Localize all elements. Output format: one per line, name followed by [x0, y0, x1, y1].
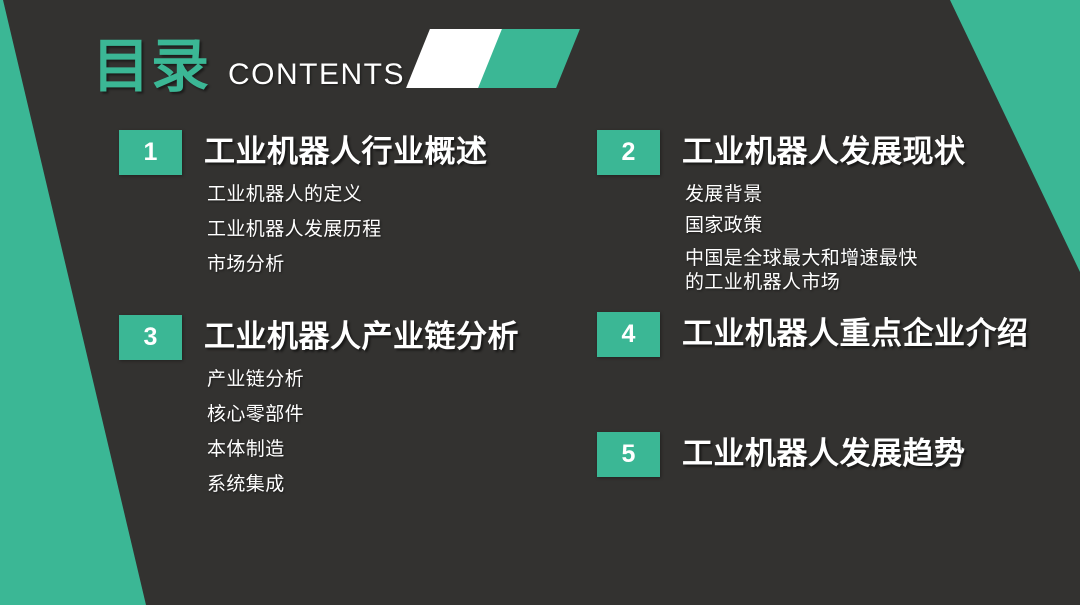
entry-title: 工业机器人发展趋势: [682, 437, 966, 471]
entry-sub-list: 发展背景 国家政策 中国是全球最大和增速最快 的工业机器人市场: [685, 185, 966, 295]
contents-entry-5[interactable]: 5 工业机器人发展趋势: [597, 432, 966, 477]
entry-header: 3 工业机器人产业链分析: [119, 315, 519, 360]
entry-header: 2 工业机器人发展现状: [597, 130, 966, 175]
entry-title: 工业机器人重点企业介绍: [682, 317, 1029, 351]
list-item[interactable]: 发展背景: [685, 185, 966, 204]
contents-entry-1[interactable]: 1 工业机器人行业概述 工业机器人的定义 工业机器人发展历程 市场分析: [119, 130, 488, 290]
entry-title: 工业机器人行业概述: [204, 135, 488, 169]
contents-entry-2[interactable]: 2 工业机器人发展现状 发展背景 国家政策 中国是全球最大和增速最快 的工业机器…: [597, 130, 966, 307]
entry-number-badge: 5: [597, 432, 660, 477]
entry-number-badge: 3: [119, 315, 182, 360]
entry-sub-list: 工业机器人的定义 工业机器人发展历程 市场分析: [207, 185, 488, 274]
entry-title: 工业机器人发展现状: [682, 135, 966, 169]
list-item[interactable]: 产业链分析: [207, 370, 519, 389]
entry-header: 4 工业机器人重点企业介绍: [597, 312, 1029, 357]
entry-number-badge: 4: [597, 312, 660, 357]
entry-header: 5 工业机器人发展趋势: [597, 432, 966, 477]
list-item[interactable]: 工业机器人的定义: [207, 185, 488, 204]
list-item[interactable]: 市场分析: [207, 255, 488, 274]
list-item[interactable]: 国家政策: [685, 216, 966, 235]
entry-header: 1 工业机器人行业概述: [119, 130, 488, 175]
entry-number-badge: 1: [119, 130, 182, 175]
list-item[interactable]: 核心零部件: [207, 405, 519, 424]
list-item[interactable]: 本体制造: [207, 440, 519, 459]
list-item[interactable]: 系统集成: [207, 475, 519, 494]
entry-number-badge: 2: [597, 130, 660, 175]
contents-list: 1 工业机器人行业概述 工业机器人的定义 工业机器人发展历程 市场分析 3 工业…: [0, 0, 1080, 605]
list-item[interactable]: 工业机器人发展历程: [207, 220, 488, 239]
entry-title: 工业机器人产业链分析: [204, 320, 519, 354]
list-item[interactable]: 中国是全球最大和增速最快 的工业机器人市场: [685, 247, 966, 295]
slide-canvas: 目录 CONTENTS 1 工业机器人行业概述 工业机器人的定义 工业机器人发展…: [0, 0, 1080, 605]
entry-sub-list: 产业链分析 核心零部件 本体制造 系统集成: [207, 370, 519, 494]
contents-entry-3[interactable]: 3 工业机器人产业链分析 产业链分析 核心零部件 本体制造 系统集成: [119, 315, 519, 510]
contents-entry-4[interactable]: 4 工业机器人重点企业介绍: [597, 312, 1029, 357]
